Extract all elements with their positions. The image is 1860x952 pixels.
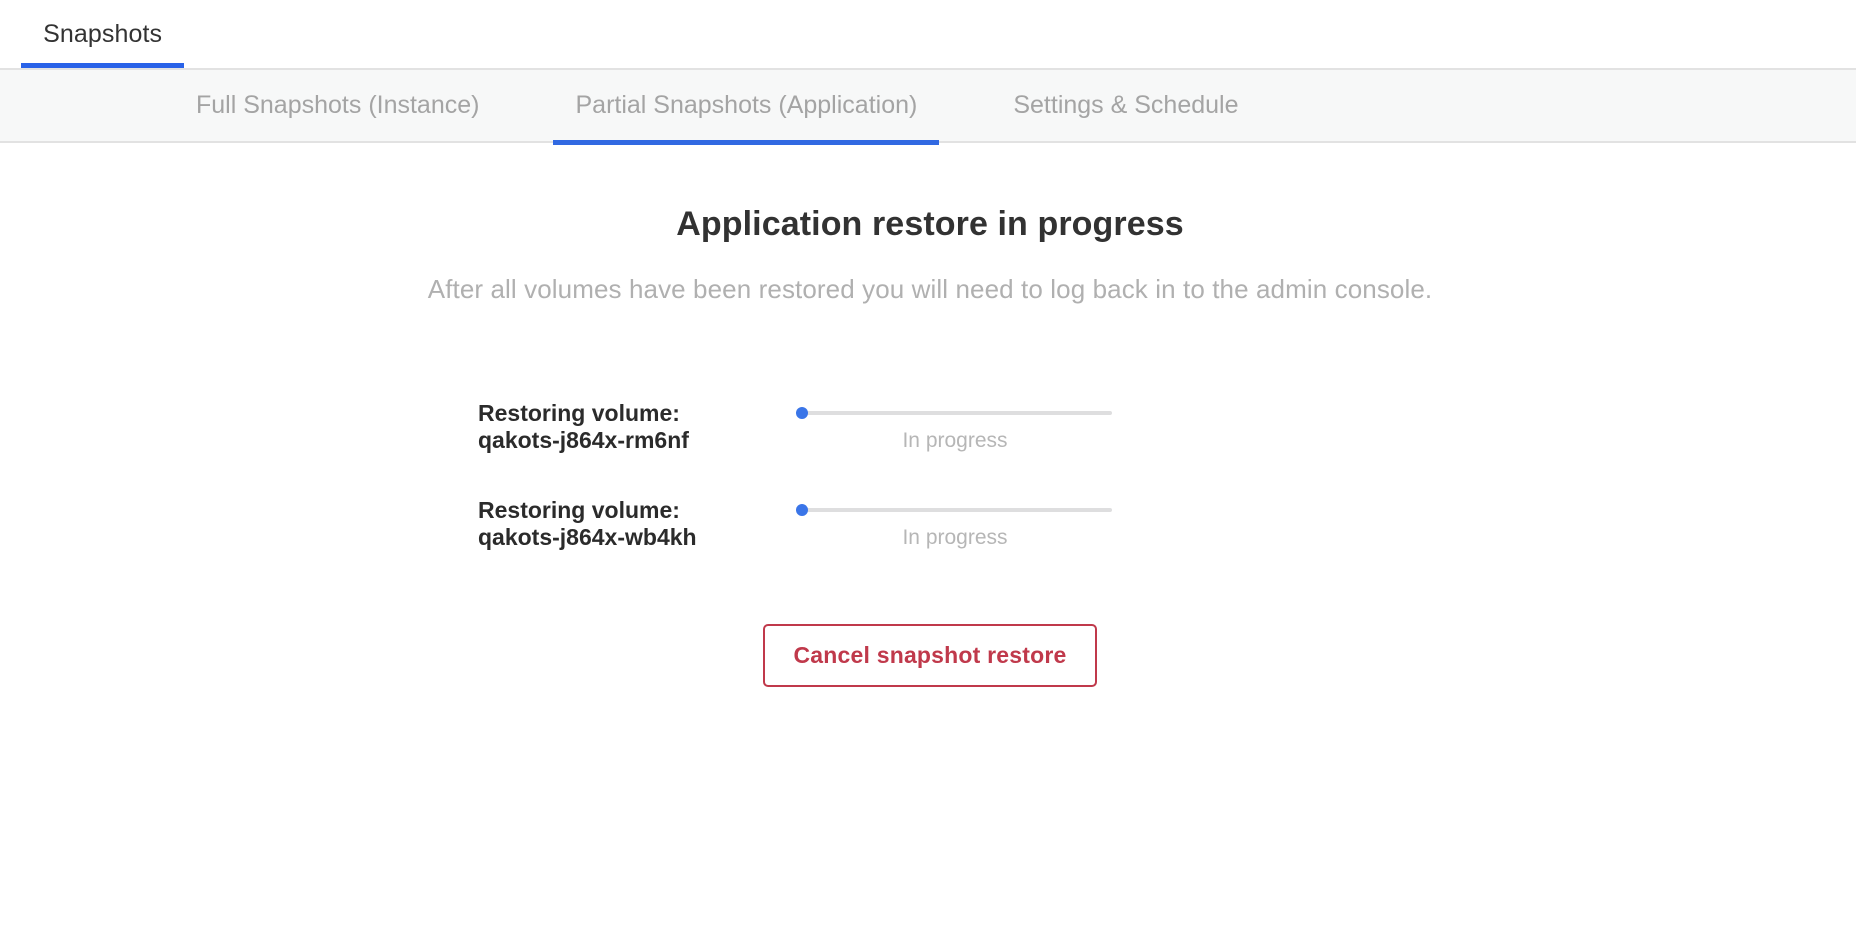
- cancel-snapshot-restore-button[interactable]: Cancel snapshot restore: [763, 624, 1096, 687]
- volume-progress: In progress: [798, 494, 1118, 550]
- volume-progress: In progress: [798, 397, 1118, 453]
- progress-handle-icon: [796, 407, 808, 419]
- progress-handle-icon: [796, 504, 808, 516]
- page-title: Application restore in progress: [0, 143, 1860, 244]
- progress-status-text: In progress: [798, 526, 1112, 550]
- primary-tab-snapshots-label: Snapshots: [43, 20, 162, 49]
- tab-settings-and-schedule-label: Settings & Schedule: [1013, 91, 1238, 120]
- page-subtitle: After all volumes have been restored you…: [0, 244, 1860, 305]
- tab-partial-snapshots-application-label: Partial Snapshots (Application): [575, 91, 917, 120]
- secondary-tab-bar: Full Snapshots (Instance) Partial Snapsh…: [0, 68, 1856, 143]
- actions-row: Cancel snapshot restore: [0, 624, 1860, 687]
- volume-restore-row: Restoring volume: qakots-j864x-rm6nf In …: [478, 397, 1118, 454]
- tab-full-snapshots-instance-label: Full Snapshots (Instance): [196, 91, 479, 120]
- tab-partial-snapshots-application[interactable]: Partial Snapshots (Application): [575, 68, 917, 143]
- volume-restore-prefix: Restoring volume:: [478, 400, 798, 427]
- volume-restore-label: Restoring volume: qakots-j864x-wb4kh: [478, 494, 798, 551]
- primary-tab-snapshots[interactable]: Snapshots: [21, 0, 184, 68]
- tab-settings-and-schedule[interactable]: Settings & Schedule: [1013, 68, 1238, 143]
- volume-name: qakots-j864x-rm6nf: [478, 427, 798, 454]
- tab-full-snapshots-instance[interactable]: Full Snapshots (Instance): [196, 68, 479, 143]
- restore-progress-panel: Application restore in progress After al…: [0, 143, 1860, 687]
- volume-restore-row: Restoring volume: qakots-j864x-wb4kh In …: [478, 494, 1118, 551]
- primary-tab-bar: nt Snapshots: [0, 0, 1860, 68]
- volume-restore-prefix: Restoring volume:: [478, 497, 798, 524]
- progress-track: [798, 508, 1112, 512]
- volume-restore-list: Restoring volume: qakots-j864x-rm6nf In …: [0, 397, 1860, 551]
- progress-track: [798, 411, 1112, 415]
- volume-restore-label: Restoring volume: qakots-j864x-rm6nf: [478, 397, 798, 454]
- progress-status-text: In progress: [798, 429, 1112, 453]
- volume-name: qakots-j864x-wb4kh: [478, 524, 798, 551]
